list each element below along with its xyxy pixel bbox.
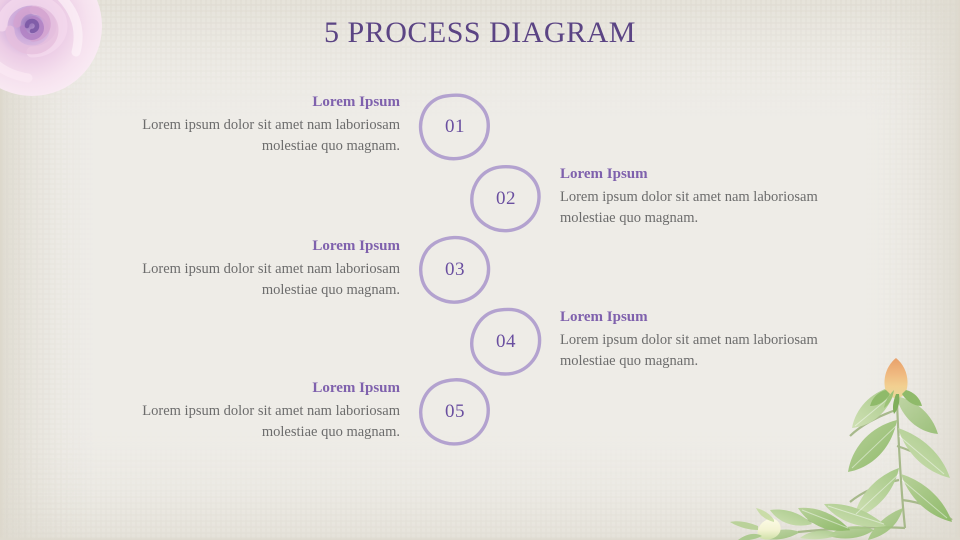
step-03-body: Lorem ipsum dolor sit amet nam laboriosa… — [90, 259, 400, 300]
step-04-number: 04 — [469, 307, 543, 377]
step-02-body: Lorem ipsum dolor sit amet nam laboriosa… — [560, 187, 870, 228]
step-03-heading: Lorem Ipsum — [90, 236, 400, 256]
slide-canvas: 5 PROCESS DIAGRAM Lorem Ipsum Lorem ipsu… — [0, 0, 960, 540]
step-02-heading: Lorem Ipsum — [560, 164, 870, 184]
step-03-number: 03 — [418, 235, 492, 305]
step-04-heading: Lorem Ipsum — [560, 307, 870, 327]
step-03-circle-icon[interactable]: 03 — [418, 235, 492, 305]
step-01-circle-icon[interactable]: 01 — [418, 92, 492, 162]
page-title: 5 PROCESS DIAGRAM — [0, 16, 960, 50]
step-01-body: Lorem ipsum dolor sit amet nam laboriosa… — [90, 115, 400, 156]
step-01-number: 01 — [418, 92, 492, 162]
step-05-circle-icon[interactable]: 05 — [418, 377, 492, 447]
step-02-text: Lorem Ipsum Lorem ipsum dolor sit amet n… — [560, 164, 870, 228]
step-04-circle-icon[interactable]: 04 — [469, 307, 543, 377]
step-02-circle-icon[interactable]: 02 — [469, 164, 543, 234]
step-05-heading: Lorem Ipsum — [90, 378, 400, 398]
foliage-decoration-icon — [700, 350, 960, 540]
step-01-text: Lorem Ipsum Lorem ipsum dolor sit amet n… — [90, 92, 400, 156]
step-05-number: 05 — [418, 377, 492, 447]
step-05-body: Lorem ipsum dolor sit amet nam laboriosa… — [90, 401, 400, 442]
step-01-heading: Lorem Ipsum — [90, 92, 400, 112]
step-02-number: 02 — [469, 164, 543, 234]
step-03-text: Lorem Ipsum Lorem ipsum dolor sit amet n… — [90, 236, 400, 300]
step-05-text: Lorem Ipsum Lorem ipsum dolor sit amet n… — [90, 378, 400, 442]
